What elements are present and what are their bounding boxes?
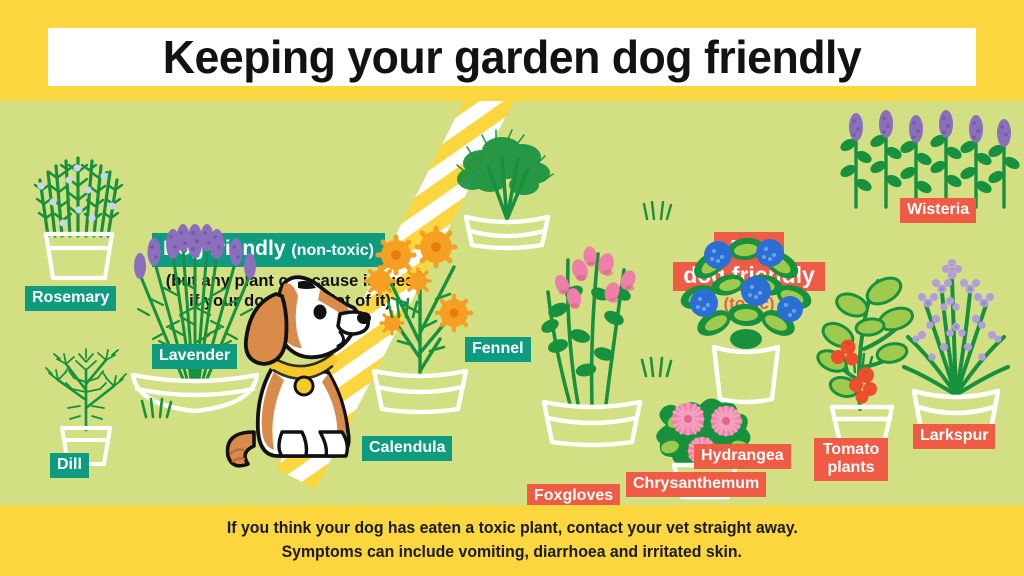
label-dill: Dill [50, 453, 89, 478]
grass-tuft-icon [386, 297, 422, 324]
label-hydrangea: Hydrangea [694, 444, 791, 469]
dill-illustration [36, 334, 136, 469]
plant-hydrangea [674, 219, 819, 404]
label-tomato-plants: Tomato plants [814, 438, 888, 481]
plant-dill [36, 334, 136, 469]
plant-foxgloves [528, 236, 656, 446]
grass-tuft-icon [642, 201, 674, 226]
label-rosemary: Rosemary [25, 286, 116, 311]
label-chrysanthemum: Chrysanthemum [626, 472, 766, 497]
grass-tuft-icon [140, 397, 176, 424]
hydrangea-illustration [674, 219, 819, 404]
footer-advice: If you think your dog has eaten a toxic … [0, 505, 1024, 576]
footer-line1: If you think your dog has eaten a toxic … [227, 517, 798, 541]
title-banner: Keeping your garden dog friendly [48, 28, 976, 86]
larkspur-illustration [896, 239, 1018, 439]
rosemary-illustration [22, 128, 134, 283]
infographic-poster: Keeping your garden dog friendly Dog fri… [0, 0, 1024, 576]
label-wisteria: Wisteria [900, 198, 976, 223]
label-larkspur: Larkspur [913, 424, 995, 449]
label-foxgloves: Foxgloves [527, 484, 620, 505]
plant-rosemary [22, 128, 134, 283]
plant-fennel [452, 123, 562, 248]
dog-illustration [216, 256, 376, 471]
garden-canvas: Dog friendly (non-toxic) (but any plant … [0, 101, 1024, 505]
wisteria-illustration [838, 111, 1024, 211]
foxgloves-illustration [528, 236, 656, 446]
plant-larkspur [896, 239, 1018, 439]
footer-line2: Symptoms can include vomiting, diarrhoea… [282, 541, 742, 565]
dog-svg [216, 256, 376, 471]
fennel-illustration [452, 123, 562, 248]
page-title: Keeping your garden dog friendly [163, 30, 861, 84]
plant-wisteria [838, 111, 1024, 211]
label-fennel: Fennel [465, 337, 531, 362]
